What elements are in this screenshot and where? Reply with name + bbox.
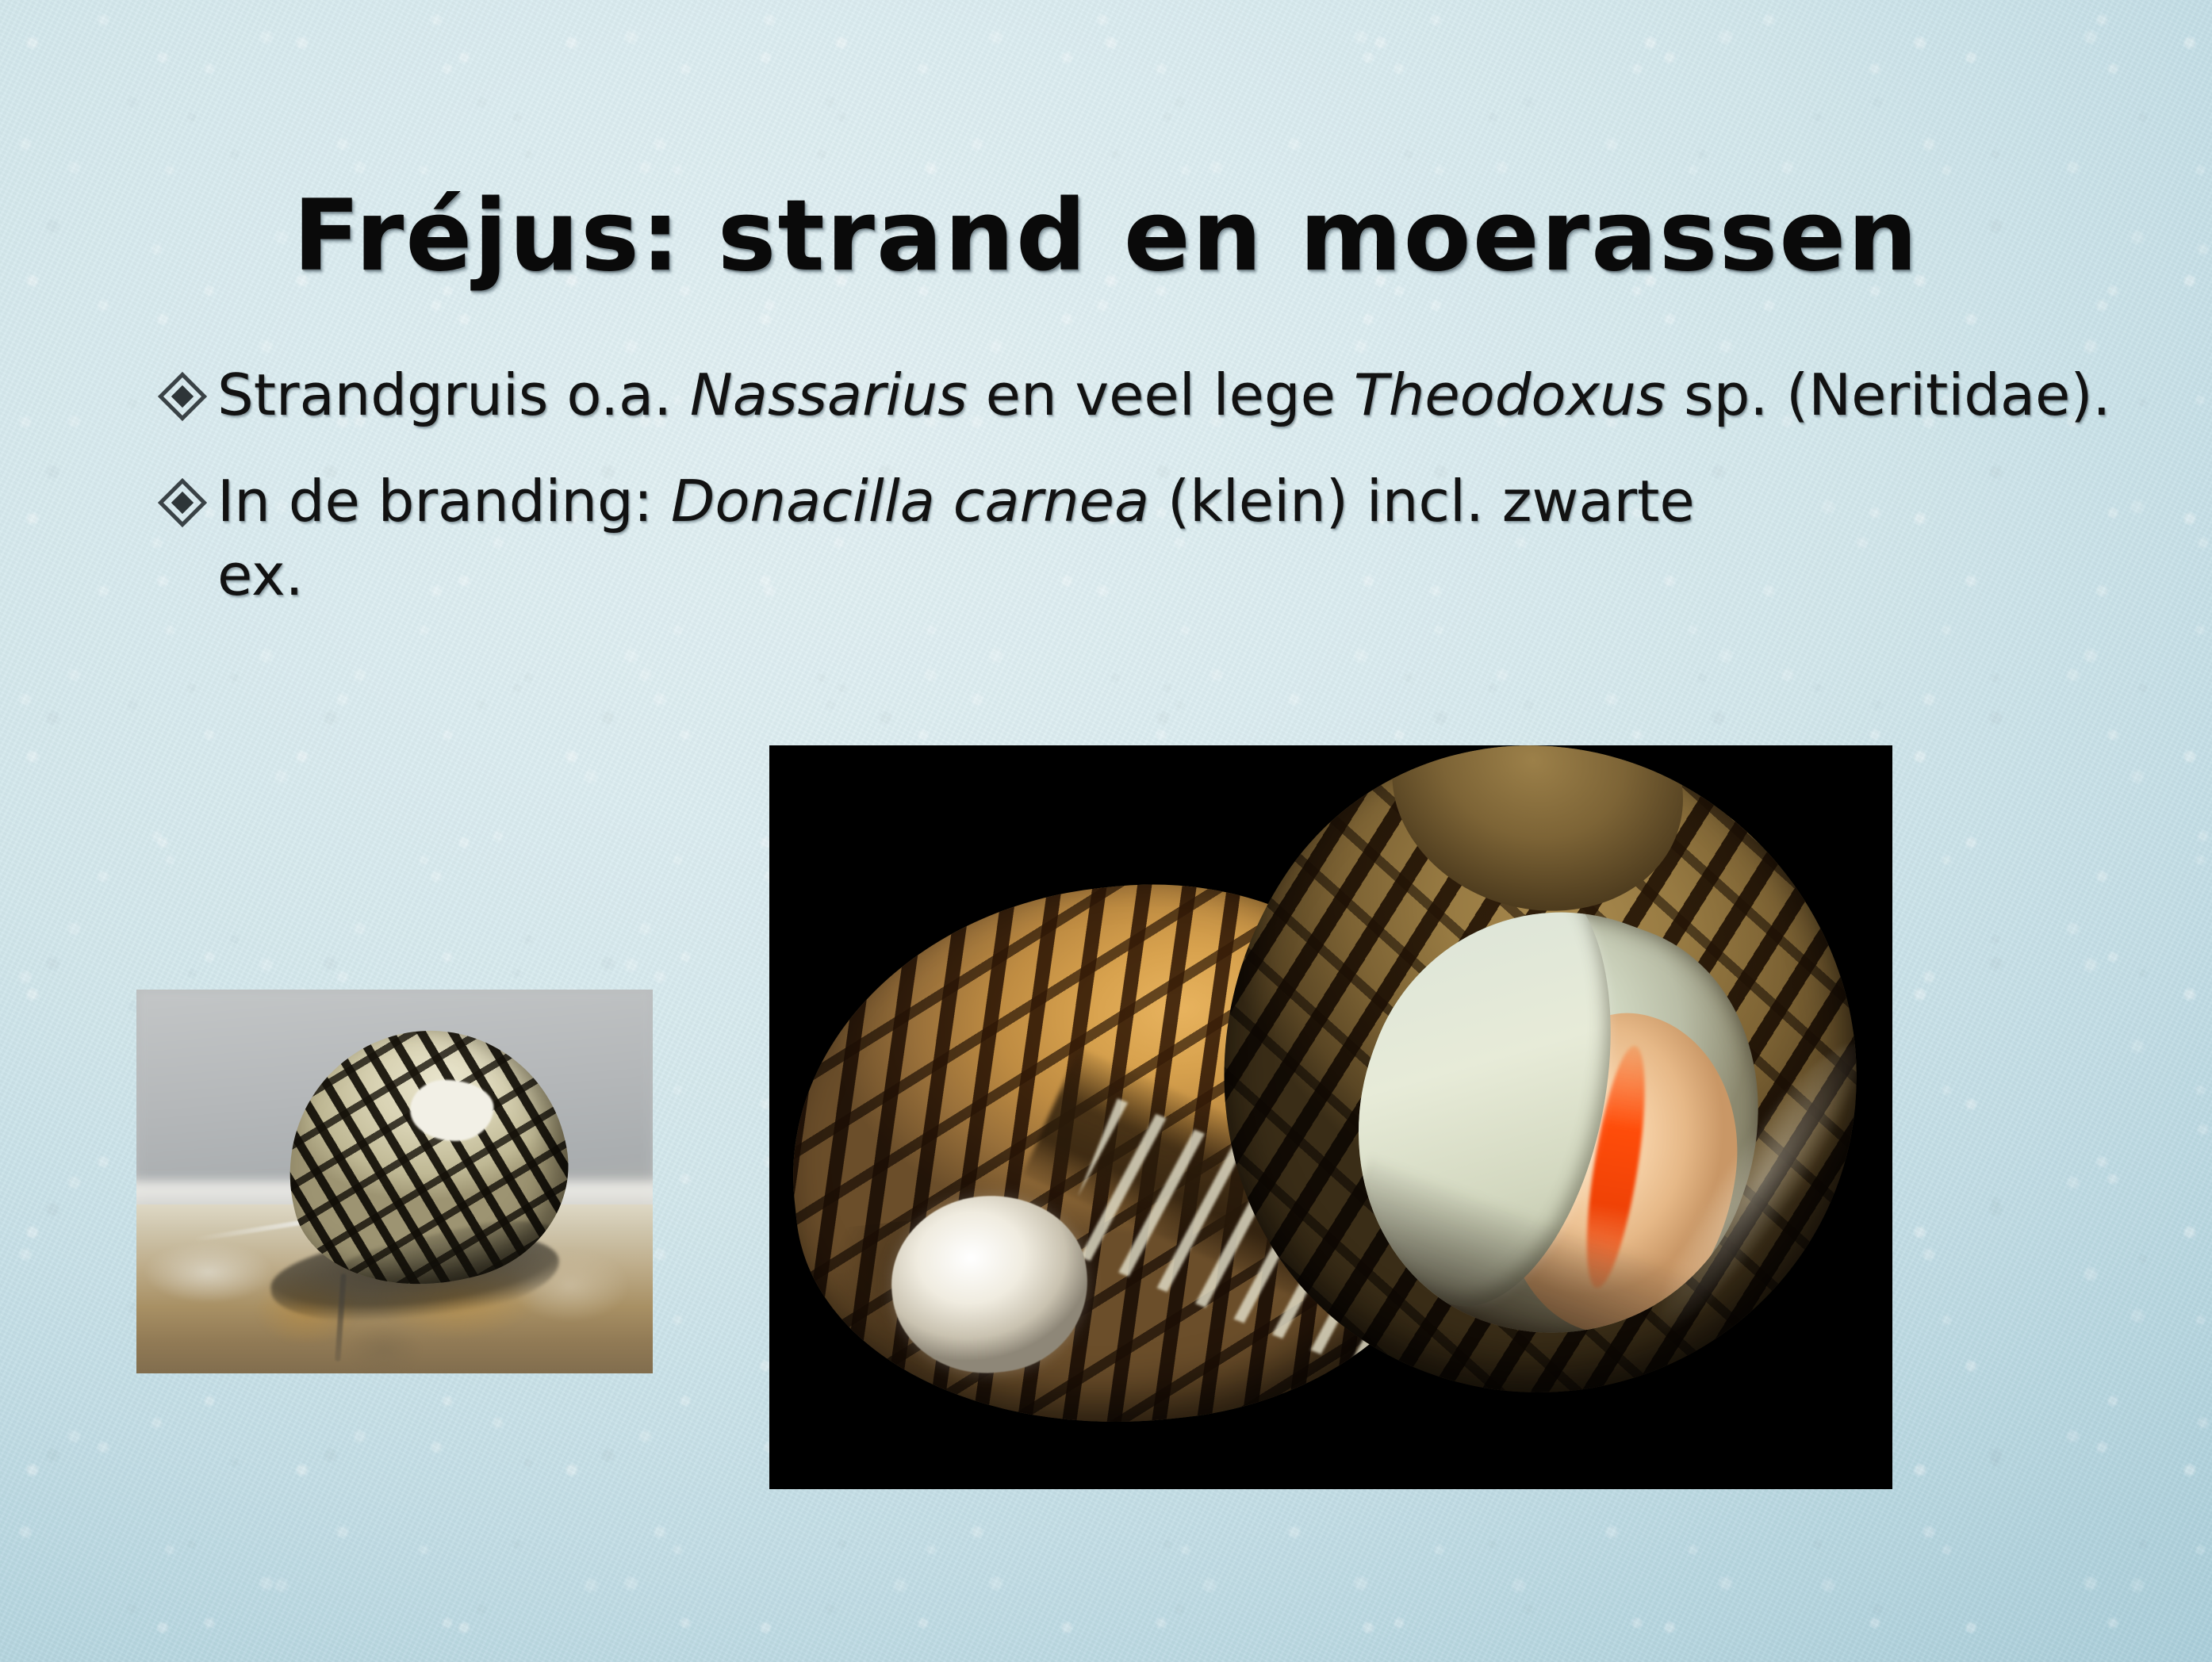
bullet-1-species-theodoxus: Theodoxus [1354,362,1666,428]
diamond-bullet-icon [165,485,217,520]
bullet-1-text-part-2: en veel lege [968,362,1354,428]
bullet-item-2-text: In de branding: Donacilla carnea (klein)… [217,465,2132,613]
bullet-item-1: Strandgruis o.a. Nassarius en veel lege … [165,358,2132,433]
bullet-2-species-donacilla-carnea: Donacilla carnea [671,468,1149,534]
bullet-2-text-part-1: In de branding: [217,468,671,534]
slide-body-content: Strandgruis o.a. Nassarius en veel lege … [165,358,2132,645]
theodoxus-shells-photo [769,745,1892,1489]
presentation-slide: Fréjus: strand en moerassen Strandgruis … [0,0,2212,1662]
diamond-bullet-icon [165,379,217,414]
page-title: Fréjus: strand en moerassen [0,185,2212,288]
bullet-2-text-line-2: ex. [217,538,2132,613]
bullet-1-text-part-1: Strandgruis o.a. [217,362,690,428]
bullet-2-text-part-2: (klein) incl. zwarte [1149,468,1695,534]
bullet-1-text-line-2: (Neritidae). [1786,362,2110,428]
bullet-item-1-text: Strandgruis o.a. Nassarius en veel lege … [217,358,2132,433]
bullet-item-2: In de branding: Donacilla carnea (klein)… [165,465,2132,613]
live-theodoxus-snail-photo [136,990,653,1373]
bullet-1-species-nassarius: Nassarius [690,362,968,428]
bullet-1-text-part-3: sp. [1666,362,1768,428]
